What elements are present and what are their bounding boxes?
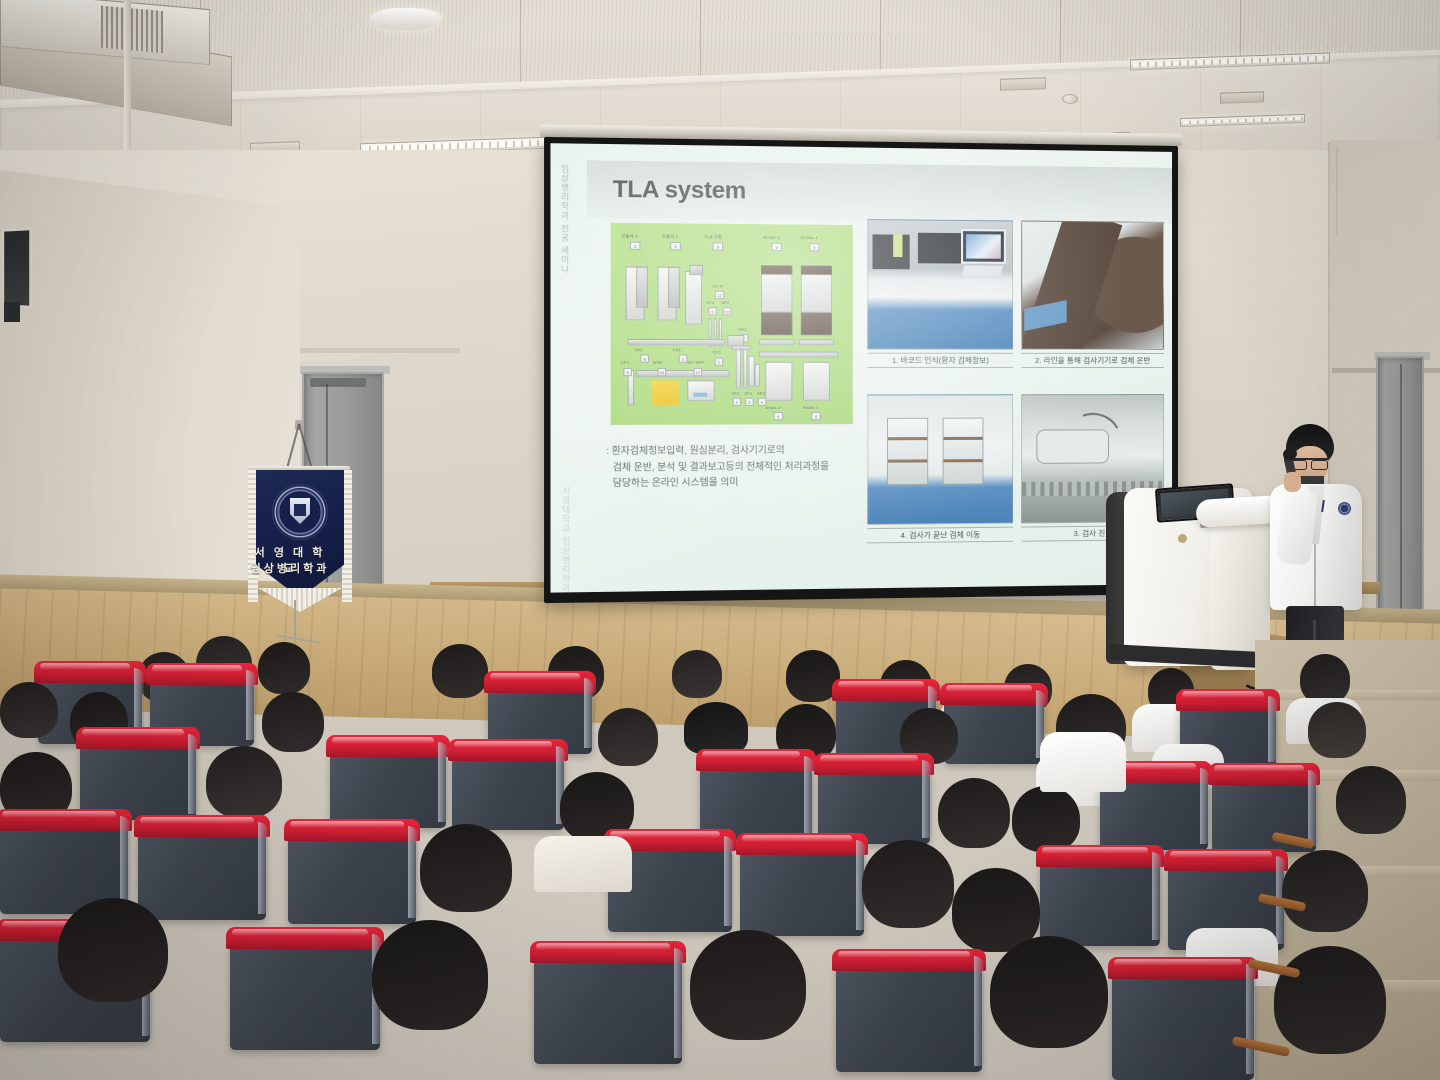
- diagram-highlight-zone: [651, 380, 679, 405]
- audience-head: [432, 644, 488, 698]
- projection-screen: 임상병리학과 전공 세미나 서영대학교 임상병리학과 TLA system 모듈…: [544, 137, 1178, 603]
- audience-head: [206, 746, 282, 818]
- projector-pole: [124, 0, 131, 165]
- lab-coat-emblem-icon: [1338, 502, 1351, 515]
- photo-caption-2: 2. 라인을 통해 검사기기로 검체 운반: [1021, 353, 1164, 368]
- photo-storage-cabinets: [867, 394, 1013, 525]
- seat[interactable]: [1112, 970, 1254, 1080]
- audience-head: [990, 936, 1108, 1048]
- seat[interactable]: [288, 832, 416, 924]
- slide-photo-cell: 2. 라인을 통해 검사기기로 검체 운반: [1021, 221, 1164, 368]
- podium-knob[interactable]: [1178, 534, 1187, 543]
- lecture-hall-photo: 임상병리학과 전공 세미나 서영대학교 임상병리학과 TLA system 모듈…: [0, 0, 1440, 1080]
- audience-head: [258, 642, 310, 694]
- audience-head: [1012, 786, 1080, 852]
- audience-head: [1308, 702, 1366, 758]
- slide-title: TLA system: [613, 175, 746, 204]
- audience-seating: [0, 636, 1440, 1080]
- slide-caption-text: : 환자검체정보입력, 원심분리, 검사기기로의 검체 운반, 분석 및 결과보…: [606, 441, 900, 491]
- department-pennant: 서 영 대 학 교 임상병리학과: [246, 424, 358, 624]
- wall-mounted-speaker: [2, 227, 33, 309]
- seat[interactable]: [230, 940, 380, 1050]
- lab-coat-front-seam: [1314, 544, 1316, 608]
- photo-barcode-reader: [867, 219, 1013, 350]
- tla-system-diagram: 모듈러-2 5 모듈러-1 5 TLA 구동 5 Ar/Ser-2 6 Ar/S…: [611, 223, 853, 425]
- presenter-hand: [1284, 472, 1301, 492]
- presentation-slide: 임상병리학과 전공 세미나 서영대학교 임상병리학과 TLA system 모듈…: [550, 143, 1172, 592]
- audience-head: [420, 824, 512, 912]
- audience-head: [598, 708, 658, 766]
- pennant-cord: [287, 424, 300, 467]
- audience-head: [862, 840, 954, 928]
- photo-conveyor-line: [1021, 221, 1164, 350]
- caption-line-3: 담당하는 온라인 시스템을 의미: [606, 473, 900, 491]
- seat[interactable]: [740, 846, 864, 936]
- seat[interactable]: [330, 748, 446, 828]
- audience-lab-coat: [1040, 732, 1126, 792]
- audience-head: [58, 898, 168, 1002]
- seat[interactable]: [944, 696, 1044, 764]
- audience-sweater: [534, 836, 632, 892]
- audience-head: [1282, 850, 1368, 932]
- seat[interactable]: [452, 752, 564, 830]
- slide-photo-cell: 1. 바코드 인식(환자 검체정보): [867, 219, 1013, 368]
- audience-head: [672, 650, 722, 698]
- audience-head-with-cap: [684, 702, 748, 754]
- seat[interactable]: [534, 954, 682, 1064]
- slide-photo-cell: 4. 검사가 끝난 검체 이동: [867, 394, 1013, 543]
- right-door-seam: [1400, 364, 1402, 622]
- seat[interactable]: [138, 828, 266, 920]
- slide-side-text-bottom: 서영대학교 임상병리학과: [560, 486, 572, 592]
- wall-corner-seam: [1336, 146, 1338, 236]
- audience-head: [1300, 654, 1350, 704]
- pennant-fringe-bottom: [258, 588, 342, 612]
- glasses-icon: [1290, 458, 1328, 466]
- projector-vent: [101, 6, 163, 53]
- pennant-line-2: 임상병리학과: [246, 560, 334, 576]
- wall-ledge: [300, 348, 460, 353]
- caption-line-1: : 환자검체정보입력, 원심분리, 검사기기로의: [606, 441, 900, 458]
- projector-grille: [7, 0, 95, 46]
- audience-head: [938, 778, 1010, 848]
- slide-side-text-top: 임상병리학과 전공 세미나: [559, 164, 571, 274]
- audience-head: [0, 682, 58, 738]
- pennant-cord: [298, 424, 312, 467]
- left-door-closer: [310, 378, 366, 387]
- photo-caption-4: 4. 검사가 끝난 검체 이동: [867, 527, 1013, 544]
- hanging-lamp: [370, 8, 442, 30]
- photo-caption-1: 1. 바코드 인식(환자 검체정보): [867, 353, 1013, 368]
- audience-head: [690, 930, 806, 1040]
- caption-line-2: 검체 운반, 분석 및 결과보고등의 전체적인 처리과정을: [606, 457, 900, 475]
- speaker-mount-bracket: [4, 302, 20, 322]
- ceiling-air-vent: [1000, 77, 1046, 91]
- audience-head: [1274, 946, 1386, 1054]
- audience-head: [262, 692, 324, 752]
- ceiling-air-vent: [1220, 91, 1264, 104]
- audience-head: [1336, 766, 1406, 834]
- seat[interactable]: [80, 740, 196, 820]
- seat[interactable]: [836, 962, 982, 1072]
- ceiling-speaker-dome: [1062, 94, 1078, 104]
- seat[interactable]: [1040, 858, 1160, 946]
- audience-head: [372, 920, 488, 1030]
